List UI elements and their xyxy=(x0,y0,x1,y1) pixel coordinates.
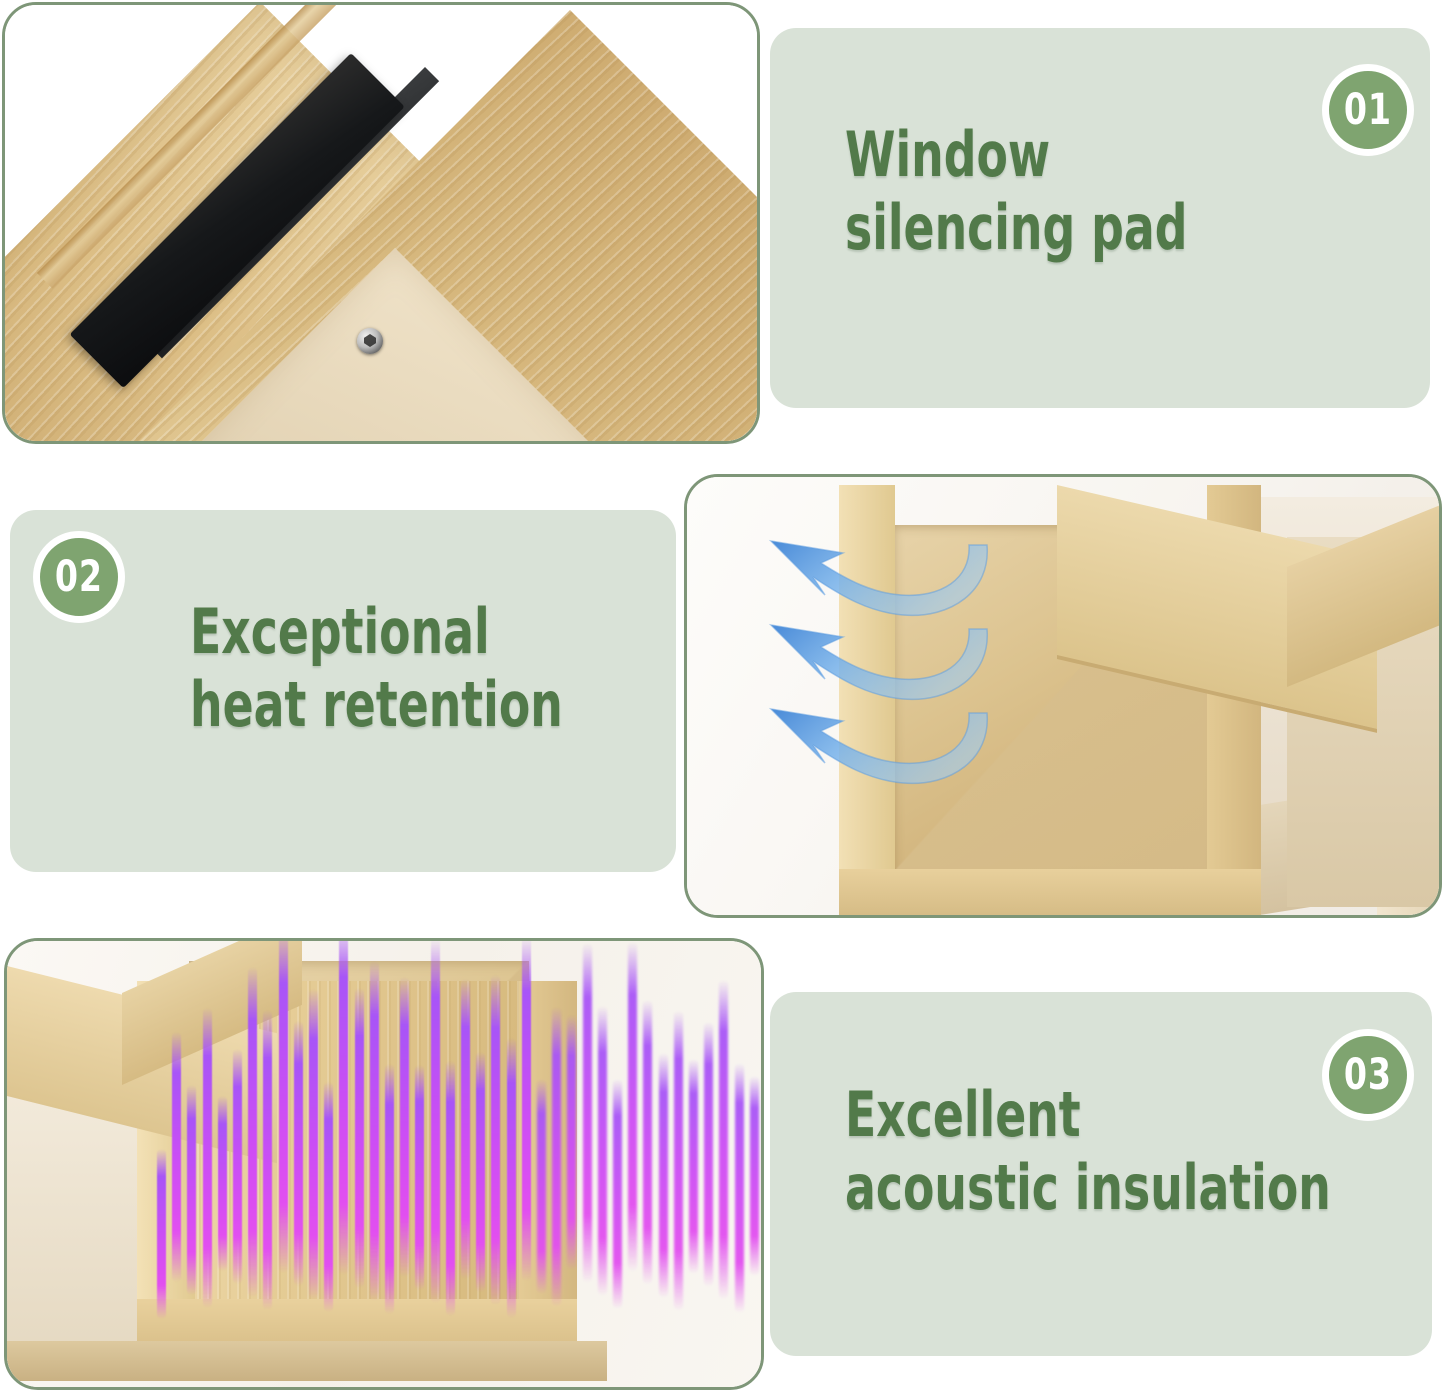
photo-2-scene xyxy=(687,477,1439,915)
feature-headline-03: Excellent acoustic insulation xyxy=(845,1078,1331,1224)
soundwave-bar xyxy=(567,1015,576,1270)
soundwave-bar xyxy=(157,1149,166,1319)
soundwave-bar xyxy=(309,989,318,1299)
soundwave-bar xyxy=(507,1038,516,1318)
soundwave-bar xyxy=(735,1063,744,1313)
soundwave-bar xyxy=(583,943,592,1283)
soundwave-bar xyxy=(415,1065,424,1290)
soundwave-bar xyxy=(431,941,440,1303)
soundwave-bar xyxy=(187,1085,196,1295)
soundwave-bar xyxy=(628,942,637,1272)
soundwave-bar xyxy=(522,941,531,1281)
feature-headline-01: Window silencing pad xyxy=(845,118,1188,264)
soundwave-bar xyxy=(704,1022,713,1287)
feature-number-label-01: 01 xyxy=(1344,89,1392,132)
soundwave-bar xyxy=(491,975,500,1305)
house-front-frame-bottom xyxy=(839,869,1261,915)
soundwave-bar xyxy=(203,1008,212,1308)
soundwave-bar xyxy=(370,961,379,1301)
soundwave-bar xyxy=(324,1082,333,1312)
screw-icon xyxy=(357,328,383,354)
soundwave-bar xyxy=(385,1064,394,1314)
feature-photo-heat-retention xyxy=(684,474,1442,918)
photo-3-scene xyxy=(7,941,761,1387)
soundwave-bar xyxy=(218,1096,227,1271)
soundwave-bar xyxy=(172,1032,181,1282)
soundwave-bar xyxy=(643,1000,652,1285)
photo-1-scene xyxy=(5,5,757,441)
soundwave-bar xyxy=(279,941,288,1273)
soundwave-bar xyxy=(719,980,728,1300)
soundwave-bar xyxy=(598,1006,607,1296)
soundwave-bar xyxy=(461,979,470,1279)
airflow-arrow-icon xyxy=(765,701,995,806)
soundwave-bar xyxy=(248,967,257,1297)
soundwave-bar xyxy=(613,1079,622,1309)
soundwave-bar xyxy=(674,1011,683,1311)
soundwave-bar xyxy=(689,1059,698,1274)
feature-number-badge-01: 01 xyxy=(1322,64,1414,156)
feature-number-label-03: 03 xyxy=(1344,1054,1392,1097)
infographic-stage: Window silencing pad 01 Exceptional heat… xyxy=(0,0,1445,1395)
feature-photo-window-silencing-pad xyxy=(2,2,760,444)
soundwave-bar xyxy=(476,1052,485,1292)
feature-number-label-02: 02 xyxy=(55,556,103,599)
feature-headline-02: Exceptional heat retention xyxy=(190,595,563,741)
soundwave-bar xyxy=(446,1061,455,1316)
feature-number-badge-02: 02 xyxy=(33,531,125,623)
soundwave-bar xyxy=(339,941,348,1275)
soundwave-bar xyxy=(263,1010,272,1310)
soundwave-bar xyxy=(400,977,409,1277)
soundwave-icon xyxy=(147,969,761,1359)
soundwave-bar xyxy=(233,1049,242,1284)
soundwave-bar xyxy=(355,988,364,1288)
soundwave-bar xyxy=(537,1079,546,1294)
soundwave-bar xyxy=(552,1007,561,1307)
feature-photo-acoustic-insulation xyxy=(4,938,764,1390)
feature-number-badge-03: 03 xyxy=(1322,1029,1414,1121)
soundwave-bar xyxy=(294,1021,303,1286)
soundwave-bar xyxy=(659,1053,668,1298)
soundwave-bar xyxy=(750,1076,759,1276)
